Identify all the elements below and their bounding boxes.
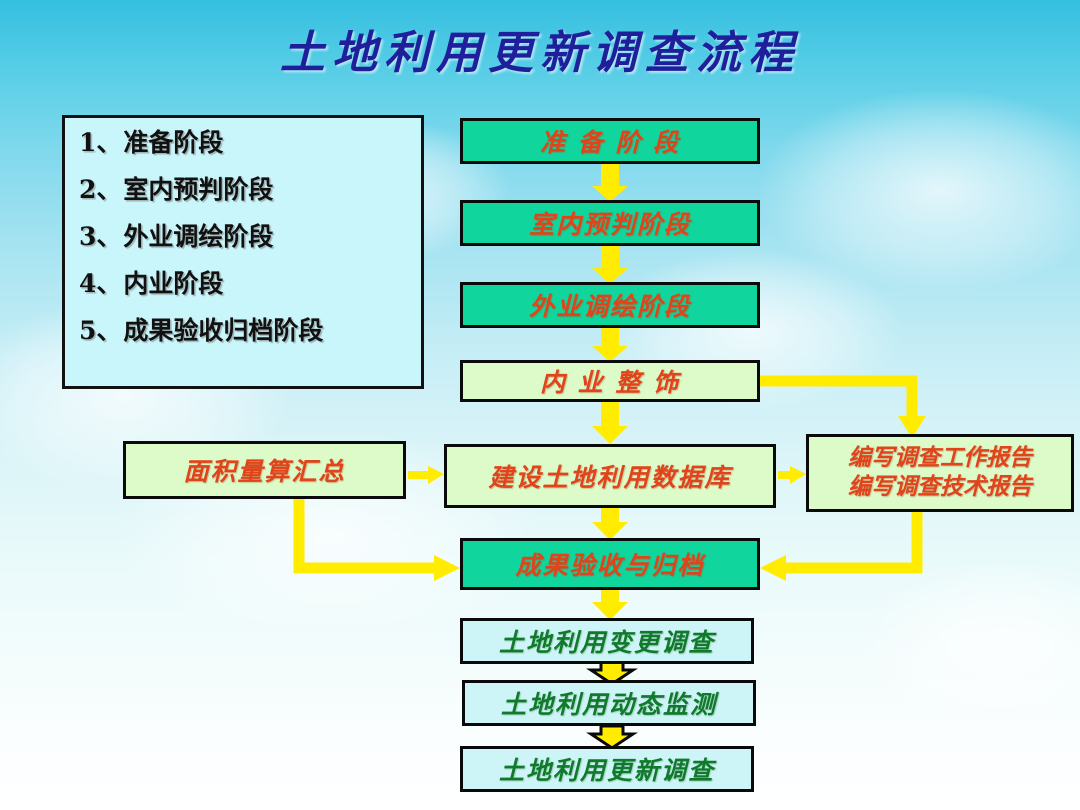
flow-node-report-label-line2: 编写调查技术报告 <box>848 473 1032 502</box>
flow-node-prep-label: 准 备 阶 段 <box>540 123 680 159</box>
arrow-down-prep-to-indoor <box>592 164 628 202</box>
arrow-right-area-to-accept <box>434 555 460 581</box>
arrow-down-finish-to-database <box>592 402 628 444</box>
flow-node-accept-label: 成果验收与归档 <box>515 546 704 582</box>
flow-node-monitor-label: 土地利用动态监测 <box>501 685 717 721</box>
arrow-down-accept-to-change <box>592 590 628 620</box>
arrow-right-database-to-report <box>778 466 806 484</box>
flow-node-indoor-label: 室内预判阶段 <box>529 205 691 241</box>
flow-node-indoor[interactable]: 室内预判阶段 <box>460 200 760 246</box>
arrow-down-monitor-to-update <box>591 726 633 748</box>
flow-node-change-label: 土地利用变更调查 <box>499 623 715 659</box>
arrow-left-database-to-area <box>408 466 444 484</box>
flow-node-change[interactable]: 土地利用变更调查 <box>460 618 754 664</box>
arrow-down-indoor-to-field <box>592 246 628 284</box>
connector-report-to-accept <box>782 512 917 568</box>
flow-node-area-label: 面积量算汇总 <box>183 452 345 488</box>
connector-finish-to-report <box>760 381 912 420</box>
flow-node-prep[interactable]: 准 备 阶 段 <box>460 118 760 164</box>
flow-node-finish[interactable]: 内 业 整 饰 <box>460 360 760 402</box>
flow-node-report[interactable]: 编写调查工作报告 编写调查技术报告 <box>806 434 1074 512</box>
flow-node-update[interactable]: 土地利用更新调查 <box>460 746 754 792</box>
flow-node-finish-label: 内 业 整 饰 <box>540 363 680 399</box>
arrow-left-report-to-accept <box>760 555 786 581</box>
flow-node-update-label: 土地利用更新调查 <box>499 751 715 787</box>
flow-node-report-label-line1: 编写调查工作报告 <box>848 444 1032 473</box>
flow-node-database-label: 建设土地利用数据库 <box>488 458 731 494</box>
flow-node-area[interactable]: 面积量算汇总 <box>123 441 406 499</box>
connector-area-to-accept <box>299 499 438 568</box>
flow-node-accept[interactable]: 成果验收与归档 <box>460 538 760 590</box>
arrow-down-field-to-finish <box>592 328 628 362</box>
flow-node-field-label: 外业调绘阶段 <box>529 287 691 323</box>
arrow-down-database-to-accept <box>592 508 628 540</box>
flow-node-database[interactable]: 建设土地利用数据库 <box>444 444 776 508</box>
flow-node-field[interactable]: 外业调绘阶段 <box>460 282 760 328</box>
flow-node-monitor[interactable]: 土地利用动态监测 <box>462 680 756 726</box>
